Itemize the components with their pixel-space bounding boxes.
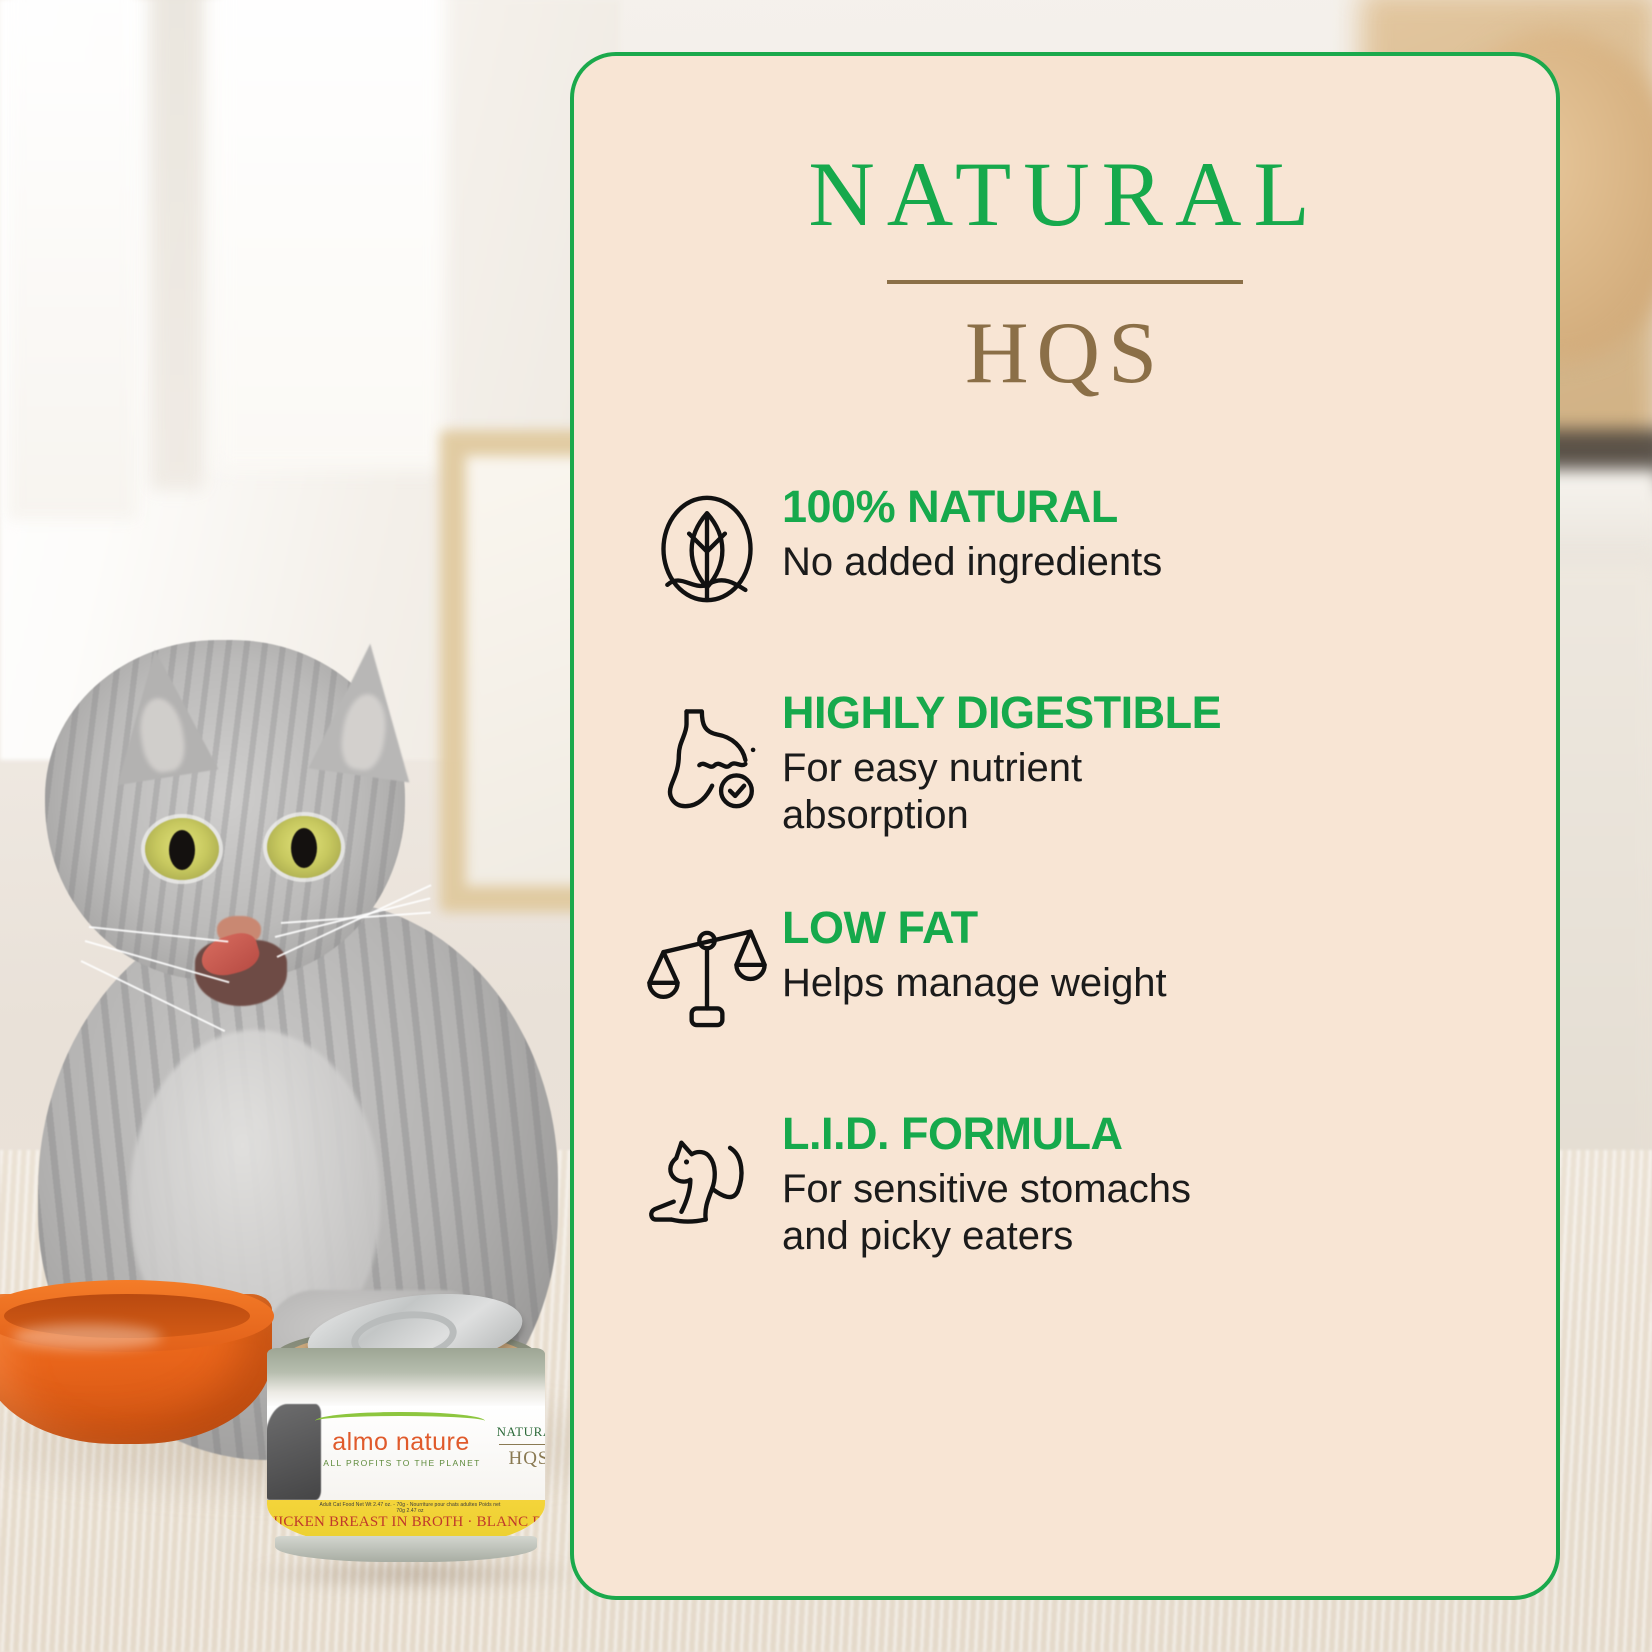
- can-line-sub: HQS: [489, 1448, 545, 1470]
- can-label: almo nature ALL PROFITS TO THE PLANET NA…: [267, 1348, 545, 1548]
- page-title: NATURAL: [574, 148, 1556, 240]
- feature-description: For easy nutrient absorption: [782, 745, 1510, 839]
- feature-card: NATURAL HQS 100% NATURAL: [570, 52, 1560, 1600]
- feature-title: LOW FAT: [782, 905, 1510, 952]
- can-line-divider: [499, 1444, 545, 1445]
- product-feature-graphic: almo nature ALL PROFITS TO THE PLANET NA…: [0, 0, 1652, 1652]
- feature-desc-line: Helps manage weight: [782, 960, 1510, 1007]
- feature-title: 100% NATURAL: [782, 484, 1510, 531]
- bowl-highlight: [12, 1324, 162, 1350]
- page-subtitle: HQS: [574, 310, 1556, 398]
- feature-item-digestible: HIGHLY DIGESTIBLE For easy nutrient abso…: [632, 680, 1510, 839]
- balance-scale-icon: [632, 895, 782, 1045]
- feature-desc-line: and picky eaters: [782, 1213, 1510, 1260]
- can-brand-tagline: ALL PROFITS TO THE PLANET: [307, 1458, 497, 1468]
- feature-item-lowfat: LOW FAT Helps manage weight: [632, 895, 1510, 1045]
- can-base: [275, 1536, 537, 1562]
- feature-text: 100% NATURAL No added ingredients: [782, 474, 1510, 586]
- feature-list: 100% NATURAL No added ingredients: [574, 474, 1556, 1260]
- feature-desc-line: No added ingredients: [782, 539, 1510, 586]
- cat-whisker: [89, 926, 228, 943]
- cat-head: [45, 640, 405, 980]
- window-pane-left: [8, 0, 138, 520]
- feature-text: L.I.D. FORMULA For sensitive stomachs an…: [782, 1101, 1510, 1260]
- orange-cat-bowl: [0, 1272, 272, 1448]
- can-line-name: NATURAL: [489, 1424, 545, 1440]
- feature-description: Helps manage weight: [782, 960, 1510, 1007]
- card-header: NATURAL HQS: [574, 56, 1556, 398]
- feature-item-lid-formula: L.I.D. FORMULA For sensitive stomachs an…: [632, 1101, 1510, 1260]
- feature-item-natural: 100% NATURAL No added ingredients: [632, 474, 1510, 624]
- can-fine-print: Adult Cat Food Net Wt 2.47 oz. - 70g - N…: [315, 1502, 505, 1514]
- cat-pupil-right: [291, 828, 317, 868]
- feature-description: For sensitive stomachs and picky eaters: [782, 1166, 1510, 1260]
- feature-desc-line: For easy nutrient: [782, 745, 1510, 792]
- cat-pupil-left: [169, 830, 195, 870]
- feature-desc-line: For sensitive stomachs: [782, 1166, 1510, 1213]
- window-pane-right: [215, 0, 445, 470]
- leaf-in-circle-icon: [632, 474, 782, 624]
- feature-text: LOW FAT Helps manage weight: [782, 895, 1510, 1007]
- window-frame-bar: [150, 0, 204, 490]
- cat-eye-left: [145, 818, 219, 880]
- feature-title: HIGHLY DIGESTIBLE: [782, 690, 1510, 737]
- cat-eye-right: [267, 816, 341, 878]
- feature-description: No added ingredients: [782, 539, 1510, 586]
- stomach-check-icon: [632, 680, 782, 830]
- feature-desc-line: absorption: [782, 792, 1510, 839]
- can-brand-name: almo nature: [311, 1428, 491, 1457]
- title-divider: [887, 280, 1243, 284]
- feature-title: L.I.D. FORMULA: [782, 1111, 1510, 1158]
- feature-text: HIGHLY DIGESTIBLE For easy nutrient abso…: [782, 680, 1510, 839]
- product-can: almo nature ALL PROFITS TO THE PLANET NA…: [255, 1310, 555, 1580]
- can-flavor-text: CHICKEN BREAST IN BROTH · BLANC DE POULE…: [267, 1514, 545, 1531]
- sitting-cat-icon: [632, 1101, 782, 1251]
